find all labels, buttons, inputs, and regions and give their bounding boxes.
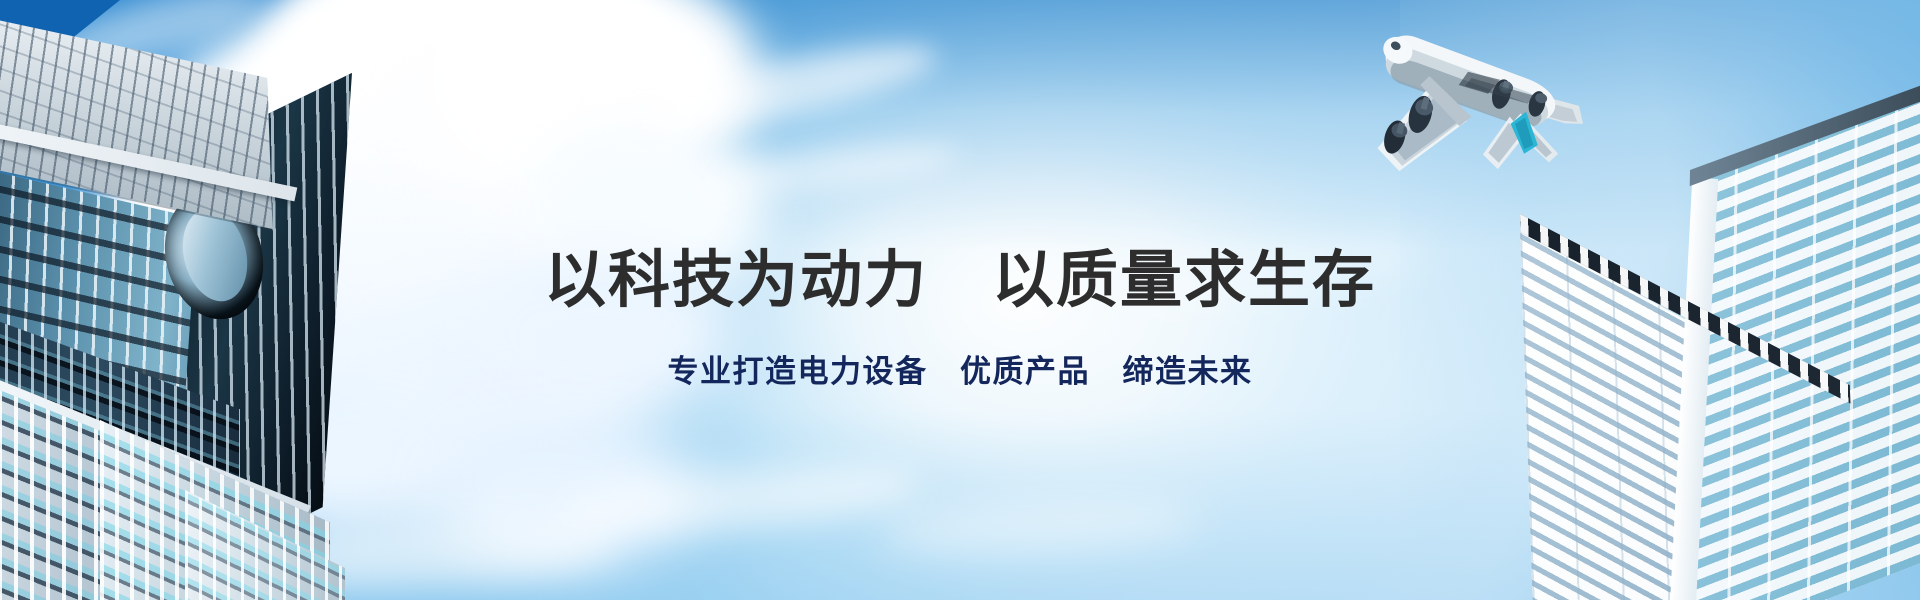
building-right-corner-tower [1490, 170, 1920, 600]
cloud-puff [470, 255, 730, 415]
airplane-icon [1335, 8, 1595, 198]
building-lower-left-cluster [0, 300, 310, 600]
hero-banner: 以科技为动力 以质量求生存 专业打造电力设备 优质产品 缔造未来 [0, 0, 1920, 600]
